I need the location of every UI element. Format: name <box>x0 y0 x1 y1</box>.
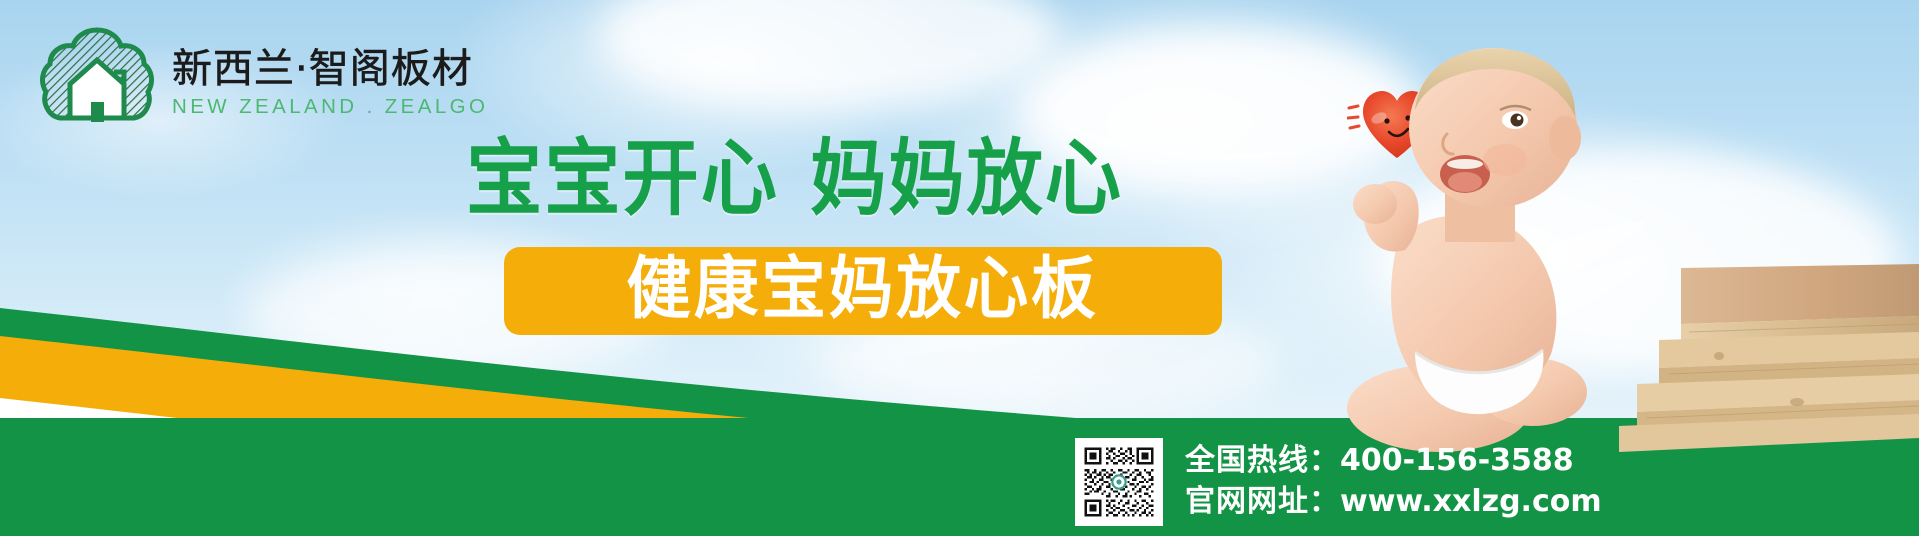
photo-area <box>1299 0 1919 470</box>
qr-code[interactable] <box>1075 438 1163 526</box>
contact-block: 全国热线：400-156-3588 官网网址：www.xxlzg.com <box>1075 438 1602 526</box>
contact-text-lines: 全国热线：400-156-3588 官网网址：www.xxlzg.com <box>1185 443 1602 520</box>
website-label: 官网网址： <box>1185 484 1340 519</box>
brand-logo[interactable]: 新西兰·智阁板材 NEW ZEALAND . ZEALGO <box>36 26 488 134</box>
website-line: 官网网址：www.xxlzg.com <box>1185 484 1602 521</box>
tree-house-icon <box>36 26 158 134</box>
logo-english-name: NEW ZEALAND . ZEALGO <box>172 95 488 119</box>
logo-chinese-name: 新西兰·智阁板材 <box>172 49 488 89</box>
baby-photo <box>1319 36 1619 456</box>
headline-part2: 妈妈放心 <box>810 130 1123 227</box>
advertising-banner: 新西兰·智阁板材 NEW ZEALAND . ZEALGO 宝宝开心妈妈放心 健… <box>0 0 1919 536</box>
subheadline-text: 健康宝妈放心板 <box>627 256 1099 326</box>
hotline-label: 全国热线： <box>1185 443 1340 478</box>
headline-part1: 宝宝开心 <box>466 130 779 227</box>
hotline-line: 全国热线：400-156-3588 <box>1185 443 1602 480</box>
headline: 宝宝开心妈妈放心 <box>466 137 1123 220</box>
stacked-plywood-boards <box>1589 262 1919 462</box>
hotline-value: 400-156-3588 <box>1340 443 1574 478</box>
subheadline-pill: 健康宝妈放心板 <box>504 247 1222 335</box>
website-value[interactable]: www.xxlzg.com <box>1340 484 1602 519</box>
